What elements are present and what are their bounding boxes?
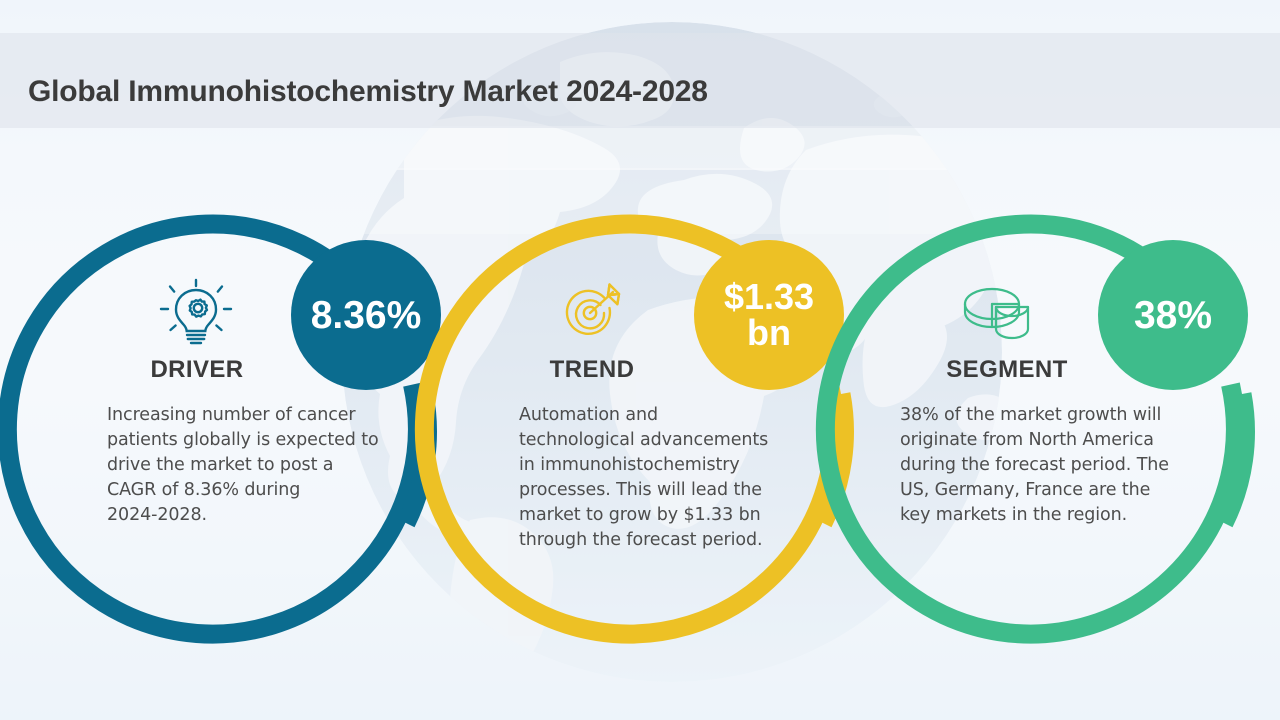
card-driver[interactable]: 8.36% DRIVER <box>0 0 467 720</box>
driver-badge-value: 8.36% <box>311 296 422 335</box>
body-line: technological advancements <box>519 428 819 453</box>
body-line: Increasing number of cancer <box>107 403 407 428</box>
lightbulb-gear-icon <box>157 278 235 350</box>
body-line: processes. This will lead the <box>519 478 819 503</box>
segment-badge[interactable]: 38% <box>1098 240 1248 390</box>
trend-body: Automation and technological advancement… <box>519 403 819 553</box>
driver-label: DRIVER <box>107 356 287 384</box>
card-trend[interactable]: $1.33 bn TREND Automation and technologi… <box>414 0 884 720</box>
trend-badge-value-line1: $1.33 <box>724 279 814 315</box>
trend-label: TREND <box>512 356 672 384</box>
body-line: in immunohistochemistry <box>519 453 819 478</box>
body-line: CAGR of 8.36% during <box>107 478 407 503</box>
segment-badge-value: 38% <box>1134 296 1212 335</box>
body-line: 38% of the market growth will <box>900 403 1210 428</box>
trend-badge-value-line2: bn <box>747 315 791 351</box>
body-line: Automation and <box>519 403 819 428</box>
body-line: patients globally is expected to <box>107 428 407 453</box>
pie-chart-icon <box>960 283 1036 347</box>
body-line: during the forecast period. The <box>900 453 1210 478</box>
body-line: market to grow by $1.33 bn <box>519 503 819 528</box>
body-line: drive the market to post a <box>107 453 407 478</box>
segment-label: SEGMENT <box>907 356 1107 384</box>
body-line: originate from North America <box>900 428 1210 453</box>
body-line: 2024-2028. <box>107 503 407 528</box>
card-segment[interactable]: 38% SEGMENT 38% of the market growth <box>815 0 1280 720</box>
target-arrow-icon <box>557 280 629 348</box>
infographic-stage: Global Immunohistochemistry Market 2024-… <box>0 0 1280 720</box>
body-line: key markets in the region. <box>900 503 1210 528</box>
segment-body: 38% of the market growth will originate … <box>900 403 1210 528</box>
body-line: through the forecast period. <box>519 528 819 553</box>
driver-body: Increasing number of cancer patients glo… <box>107 403 407 528</box>
body-line: US, Germany, France are the <box>900 478 1210 503</box>
